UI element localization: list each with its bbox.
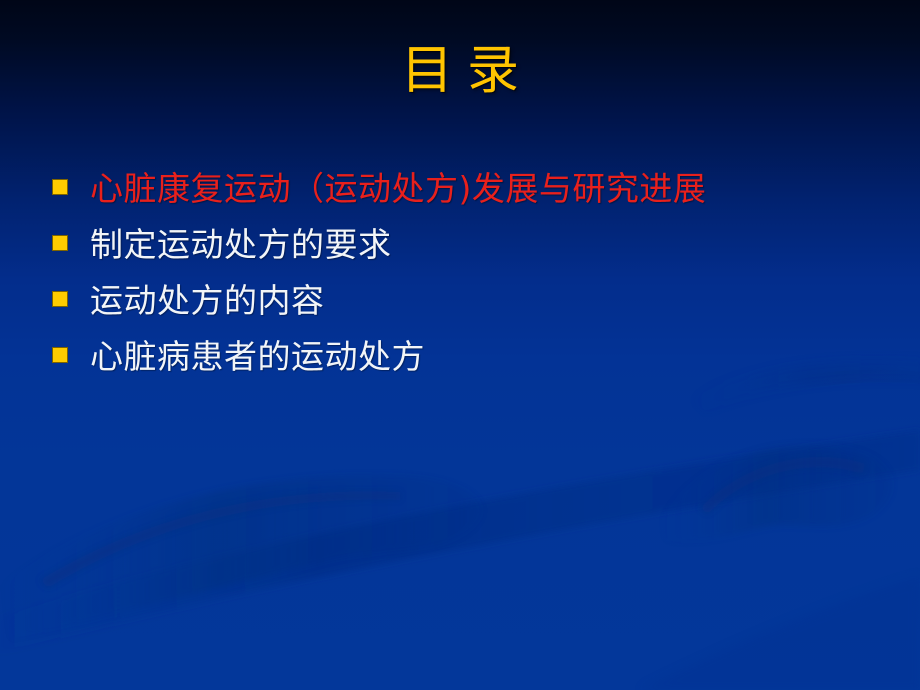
list-item[interactable]: 心脏病患者的运动处方 — [52, 334, 904, 380]
presentation-slide: 目录 心脏康复运动（运动处方)发展与研究进展 制定运动处方的要求 运动处方的内容… — [0, 0, 920, 690]
list-item-label: 心脏康复运动（运动处方)发展与研究进展 — [90, 166, 706, 212]
square-bullet-icon — [52, 347, 68, 363]
list-item[interactable]: 制定运动处方的要求 — [52, 222, 904, 268]
bullet-list: 心脏康复运动（运动处方)发展与研究进展 制定运动处方的要求 运动处方的内容 心脏… — [52, 166, 904, 390]
list-item[interactable]: 运动处方的内容 — [52, 278, 904, 324]
square-bullet-icon — [52, 179, 68, 195]
swoosh-group — [0, 361, 920, 690]
page-title: 目录 — [387, 42, 533, 100]
list-item-label: 心脏病患者的运动处方 — [90, 334, 425, 380]
list-item-label: 制定运动处方的要求 — [90, 222, 392, 268]
list-item-label: 运动处方的内容 — [90, 278, 325, 324]
list-item[interactable]: 心脏康复运动（运动处方)发展与研究进展 — [52, 166, 904, 212]
square-bullet-icon — [52, 235, 68, 251]
square-bullet-icon — [52, 291, 68, 307]
title-container: 目录 — [0, 42, 920, 100]
